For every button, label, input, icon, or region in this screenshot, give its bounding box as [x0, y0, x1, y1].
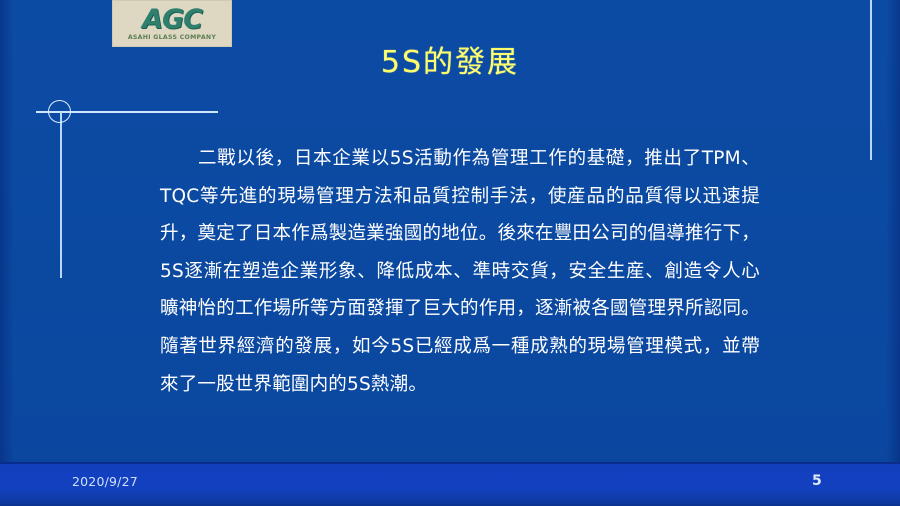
- footer-date: 2020/9/27: [72, 474, 138, 490]
- logo-wordmark: AGC: [142, 6, 202, 34]
- agc-company-logo: AGC ASAHI GLASS COMPANY: [112, 0, 232, 47]
- slide-body-text: 二戰以後，日本企業以5S活動作為管理工作的基礎，推出了TPM、TQC等先進的現場…: [160, 140, 760, 403]
- decorative-circle-icon: [48, 100, 71, 123]
- slide-title: 5S的發展: [0, 44, 900, 82]
- footer-page-number: 5: [812, 472, 822, 490]
- decorative-vertical-line: [60, 112, 62, 278]
- presentation-slide: AGC ASAHI GLASS COMPANY 5S的發展 二戰以後，日本企業以…: [0, 0, 900, 506]
- logo-subtitle: ASAHI GLASS COMPANY: [128, 34, 216, 42]
